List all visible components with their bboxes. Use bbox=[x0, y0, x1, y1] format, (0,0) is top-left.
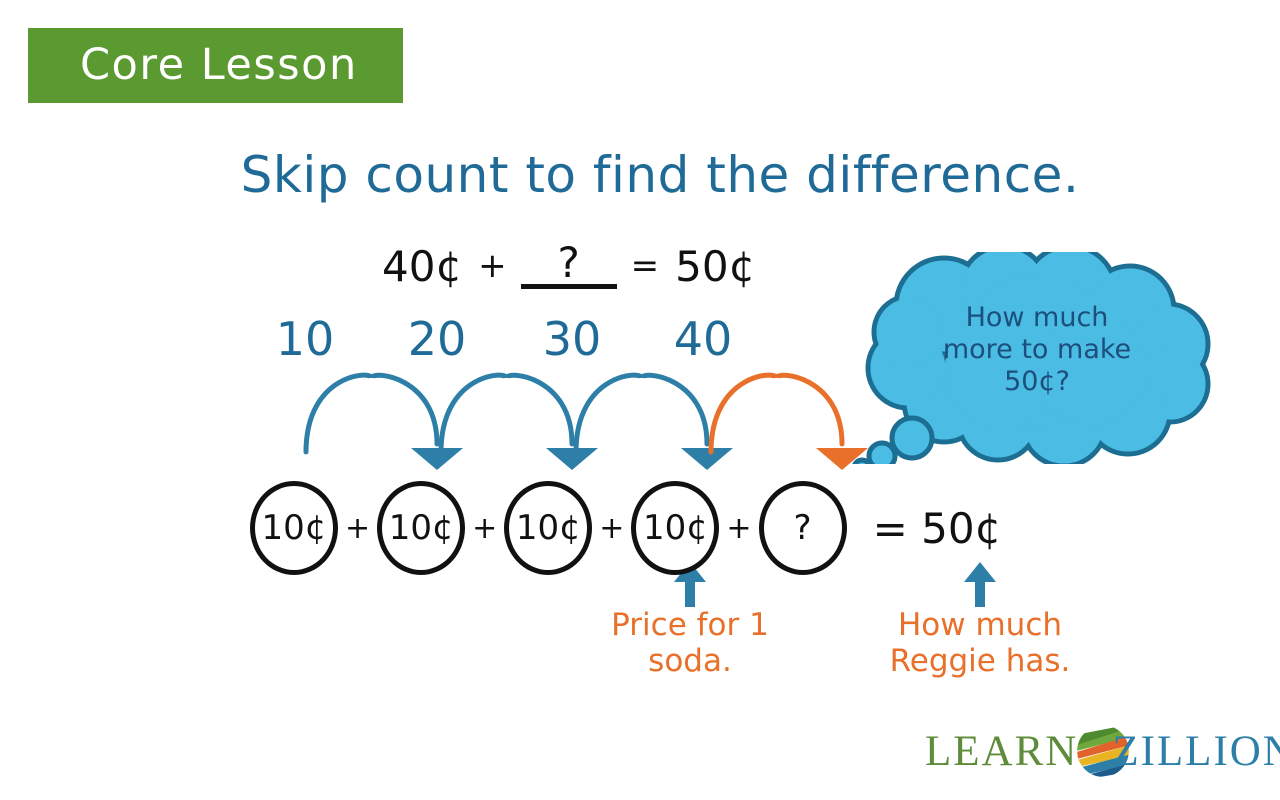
coin-value-1: 10¢ bbox=[262, 508, 327, 548]
hop-arc-3 bbox=[576, 375, 707, 452]
caption-price-line-2: soda. bbox=[575, 644, 805, 680]
bubble-tail-puff-3 bbox=[854, 460, 870, 464]
coin-circle-3: 10¢ bbox=[504, 481, 592, 575]
coin-equation-row: 10¢ + 10¢ + 10¢ + 10¢ + ? = 50¢ bbox=[250, 478, 1001, 578]
hop-arrowhead-3 bbox=[681, 448, 733, 470]
caption-arrow-shaft-2 bbox=[975, 576, 985, 607]
hop-arc-2 bbox=[441, 375, 572, 452]
caption-price-for-soda: Price for 1 soda. bbox=[575, 608, 805, 680]
logo-word-learn: LEARN bbox=[925, 727, 1078, 776]
caption-reggie-line-1: How much bbox=[855, 608, 1105, 644]
page-title-text: Skip count to find the difference. bbox=[201, 146, 1080, 204]
hop-arc-1 bbox=[306, 375, 437, 452]
coin-circle-2: 10¢ bbox=[377, 481, 465, 575]
hop-arc-4 bbox=[711, 375, 842, 452]
logo-word-zillion: ZILLION bbox=[1112, 727, 1280, 776]
thought-bubble: How much more to make 50¢? bbox=[852, 252, 1220, 464]
coin-circle-4: 10¢ bbox=[631, 481, 719, 575]
coin-plus-3: + bbox=[599, 511, 624, 546]
core-lesson-banner: Core Lesson bbox=[28, 28, 403, 103]
coin-value-4: 10¢ bbox=[643, 508, 708, 548]
coin-value-3: 10¢ bbox=[516, 508, 581, 548]
coin-equation-result: = 50¢ bbox=[873, 504, 1002, 553]
coin-circle-1: 10¢ bbox=[250, 481, 338, 575]
caption-arrow-shaft-1 bbox=[685, 576, 695, 607]
equation-equals-operator: = bbox=[631, 246, 660, 286]
skip-count-20: 20 bbox=[394, 312, 480, 366]
equation-right-term: 50¢ bbox=[675, 242, 755, 291]
thought-bubble-text: How much more to make 50¢? bbox=[906, 302, 1168, 398]
skip-count-10: 10 bbox=[262, 312, 348, 366]
coin-value-unknown: ? bbox=[794, 508, 812, 548]
thought-bubble-line-2: more to make bbox=[906, 334, 1168, 366]
skip-count-30: 30 bbox=[529, 312, 615, 366]
learnzillion-logo: LEARN ZILLION bbox=[925, 718, 1265, 784]
caption-reggie-amount: How much Reggie has. bbox=[855, 608, 1105, 680]
bubble-tail-puff-1 bbox=[892, 418, 932, 458]
coin-total-value: 50¢ bbox=[921, 504, 1001, 553]
equation-blank-answer: ? bbox=[521, 243, 617, 290]
equation-left-term: 40¢ bbox=[382, 242, 462, 291]
coin-plus-2: + bbox=[472, 511, 497, 546]
hop-arrowhead-2 bbox=[546, 448, 598, 470]
thought-bubble-line-3: 50¢? bbox=[906, 366, 1168, 398]
equation-plus-operator: + bbox=[478, 246, 507, 286]
bubble-tail-puff-2 bbox=[869, 443, 895, 464]
coin-circle-unknown: ? bbox=[759, 481, 847, 575]
coin-equals-sign: = bbox=[873, 504, 908, 553]
caption-price-line-1: Price for 1 bbox=[575, 608, 805, 644]
coin-plus-1: + bbox=[345, 511, 370, 546]
hop-arrowhead-1 bbox=[411, 448, 463, 470]
caption-reggie-line-2: Reggie has. bbox=[855, 644, 1105, 680]
coin-plus-4: + bbox=[726, 511, 751, 546]
core-lesson-label: Core Lesson bbox=[80, 44, 358, 87]
arc-group bbox=[306, 375, 868, 470]
page-title: Skip count to find the difference. bbox=[0, 146, 1280, 204]
thought-bubble-line-1: How much bbox=[906, 302, 1168, 334]
equation-row: 40¢ + ? = 50¢ bbox=[380, 234, 757, 298]
skip-count-40: 40 bbox=[660, 312, 746, 366]
coin-value-2: 10¢ bbox=[389, 508, 454, 548]
